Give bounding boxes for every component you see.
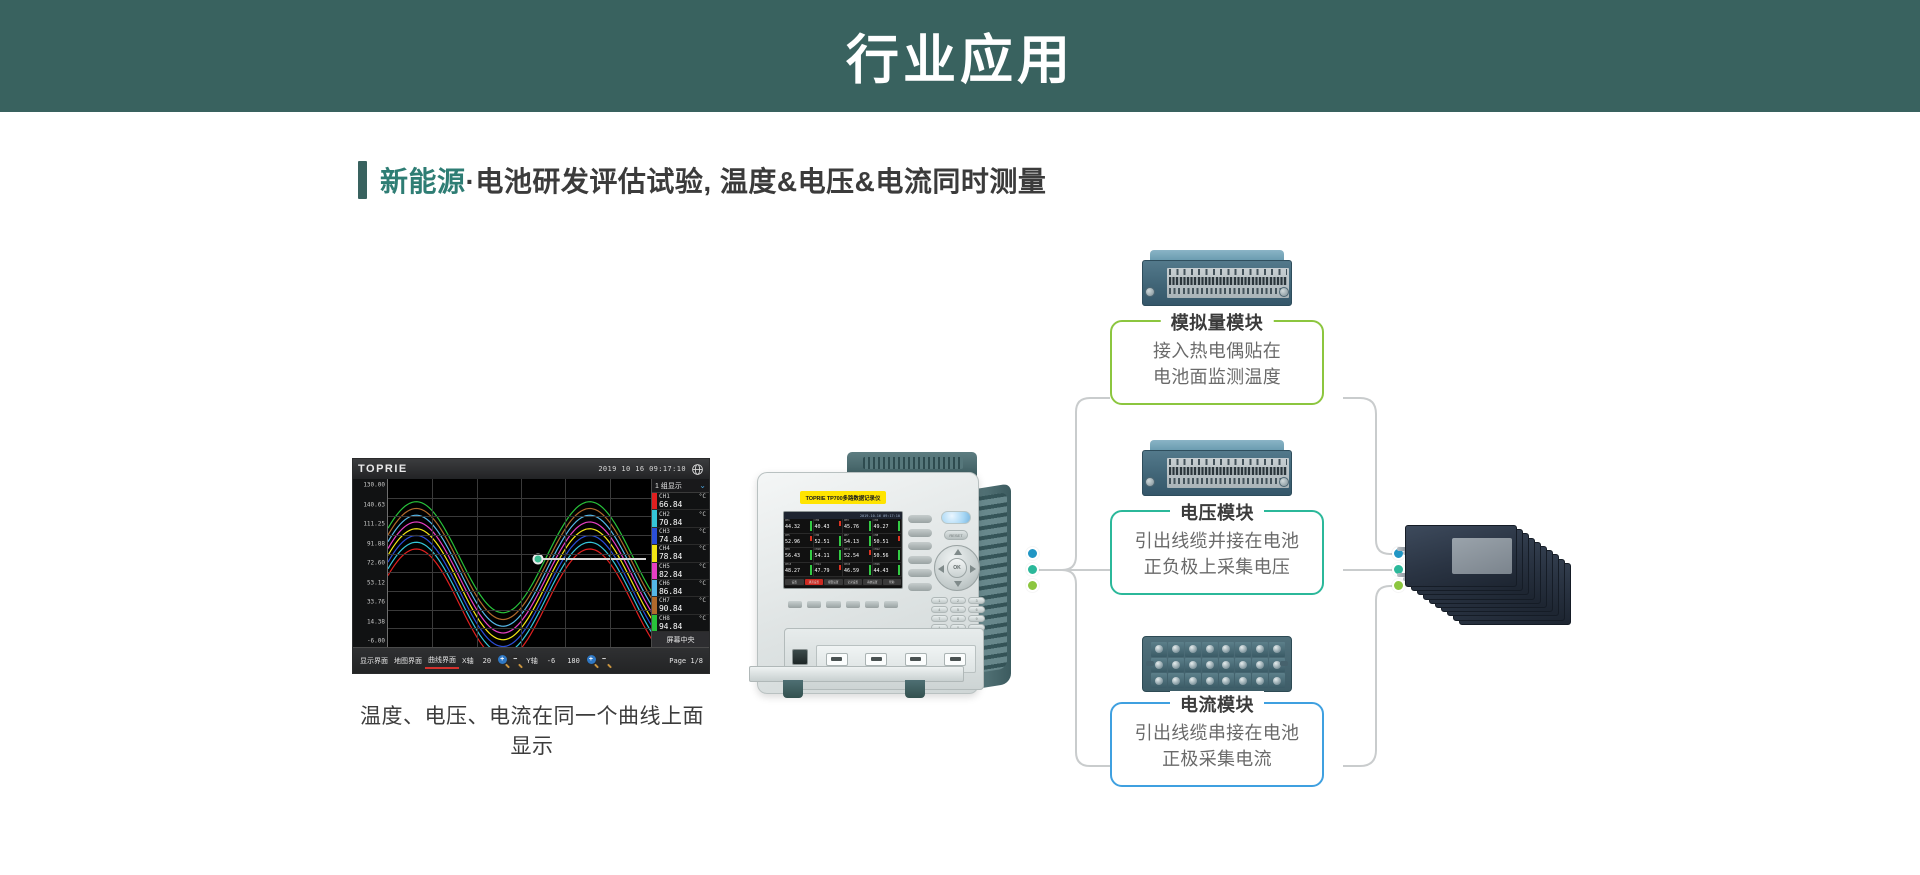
arrow-right-icon[interactable] bbox=[970, 565, 976, 573]
terminal-screw-icon bbox=[1222, 645, 1230, 653]
terminal-screw-cell bbox=[1219, 658, 1235, 673]
terminal-screw-cell bbox=[1168, 673, 1184, 688]
connector-pin-row-bottom bbox=[1169, 478, 1287, 484]
channel-value: 86.84 bbox=[659, 587, 709, 596]
terminal-screw-cell bbox=[1168, 658, 1184, 673]
device-lcd-channel-cell[interactable]: CH449.27 bbox=[873, 519, 903, 534]
device-lcd-channel-value: 49.27 bbox=[874, 523, 902, 531]
device-lcd-channel-bar bbox=[869, 550, 871, 555]
chart-y-tick: 14.38 bbox=[367, 618, 385, 625]
arrow-down-icon[interactable] bbox=[954, 581, 962, 587]
terminal-screw-icon bbox=[1256, 661, 1264, 669]
numeric-keypad[interactable]: 123456789*0. bbox=[931, 597, 985, 631]
terminal-screw-cell bbox=[1185, 642, 1201, 657]
device-lcd-channel-value: 52.96 bbox=[785, 538, 813, 546]
device-top-vents bbox=[863, 457, 963, 469]
device-lcd-channel-bar bbox=[898, 550, 900, 560]
channel-legend-row[interactable]: CH2°C70.84 bbox=[652, 510, 709, 527]
globe-icon[interactable] bbox=[691, 463, 704, 476]
terminal-screw-cell bbox=[1269, 642, 1285, 657]
terminal-screw-cell bbox=[1252, 642, 1268, 657]
device-lcd-channel-bar bbox=[898, 536, 900, 541]
screen-status-area: 2019 10 16 09:17:10 bbox=[598, 463, 704, 476]
device-front-panel: TOPRIE TP700多路数据记录仪 2019-10-16 09:17:10 … bbox=[757, 472, 979, 694]
connector-pin-row-mid bbox=[1169, 467, 1287, 475]
module-box-current: 电流模块 引出线缆串接在电池 正极采集电流 bbox=[1110, 702, 1324, 787]
terminal-screw-cell bbox=[1185, 658, 1201, 673]
module-body-voltage: 引出线缆并接在电池 正负极上采集电压 bbox=[1122, 528, 1312, 580]
device-lcd-channel-bar bbox=[839, 550, 841, 560]
device-lcd-channel-bar bbox=[839, 536, 841, 546]
keypad-key-1[interactable]: 1 bbox=[931, 597, 948, 604]
voltage-module-connector bbox=[1132, 440, 1302, 502]
zoom-out-icon[interactable]: − bbox=[511, 655, 522, 666]
terminal-screw-icon bbox=[1206, 661, 1214, 669]
device-lcd-channel-cell[interactable]: CH240.43 bbox=[814, 519, 844, 534]
channel-name: CH1 bbox=[659, 493, 670, 500]
keypad-key-2[interactable]: 2 bbox=[950, 597, 967, 604]
device-softkey-1[interactable] bbox=[908, 515, 932, 523]
terminal-screw-icon bbox=[1172, 645, 1180, 653]
module-body-analog: 接入热电偶贴在 电池面监测温度 bbox=[1122, 338, 1312, 390]
terminal-screw-cell bbox=[1151, 642, 1167, 657]
device-lcd-channel-bar bbox=[810, 550, 812, 560]
channel-unit: °C bbox=[699, 563, 706, 570]
terminal-screw-cell bbox=[1202, 673, 1218, 688]
direction-pad[interactable]: OK bbox=[934, 545, 980, 591]
channel-value: 70.84 bbox=[659, 518, 709, 527]
device-lcd-menu-button[interactable]: 系统设置 bbox=[863, 579, 882, 585]
device-lcd-channel-cell[interactable]: CH754.13 bbox=[843, 534, 873, 549]
device-lcd-channel-value: 44.32 bbox=[785, 523, 813, 531]
function-key-2[interactable] bbox=[807, 601, 821, 608]
device-softkey-6[interactable] bbox=[908, 583, 932, 591]
device-lcd-statusbar: 2019-10-16 09:17:10 bbox=[784, 512, 902, 519]
terminal-screw-cell bbox=[1202, 642, 1218, 657]
connector-screw-right bbox=[1279, 287, 1289, 297]
terminal-screw-icon bbox=[1206, 645, 1214, 653]
channel-name: CH8 bbox=[659, 615, 670, 622]
chart-cursor-handle[interactable] bbox=[533, 554, 544, 565]
chart-y-tick: 140.63 bbox=[363, 501, 385, 508]
device-lcd-timestamp: 2019-10-16 09:17:10 bbox=[860, 514, 900, 518]
device-lcd-channel-value: 52.54 bbox=[844, 552, 872, 560]
connector-dot-current-left bbox=[1026, 579, 1039, 592]
channel-legend-row[interactable]: CH1°C66.84 bbox=[652, 493, 709, 510]
chart-y-tick: 53.12 bbox=[367, 579, 385, 586]
device-lcd-channel-value: 50.51 bbox=[874, 538, 902, 546]
keypad-key-9[interactable]: 9 bbox=[968, 615, 985, 622]
ok-button[interactable]: OK bbox=[947, 558, 967, 578]
chart-gridline-v bbox=[610, 479, 611, 647]
zoom-in-icon-y[interactable]: + bbox=[587, 655, 598, 666]
screen-toolbar: 显示界面地图界面曲线界面X轴20+−Y轴-6180+−Page 1/8 bbox=[353, 647, 709, 673]
channel-legend-row[interactable]: CH6°C86.84 bbox=[652, 580, 709, 597]
toolbar-tab-1[interactable]: 地图界面 bbox=[391, 654, 425, 668]
device-softkey-2[interactable] bbox=[908, 529, 932, 537]
terminal-screw-icon bbox=[1155, 645, 1163, 653]
terminal-screw-icon bbox=[1239, 677, 1247, 685]
connector-pin-strip bbox=[1167, 458, 1289, 488]
device-foot-right bbox=[905, 680, 925, 698]
connector-screw-left bbox=[1145, 287, 1155, 297]
zoom-in-icon[interactable]: + bbox=[498, 655, 509, 666]
device-lcd-channel-cell[interactable]: CH552.96 bbox=[784, 534, 814, 549]
channel-legend-header[interactable]: 1 组显示⌄ bbox=[652, 479, 709, 493]
subtitle-separator: · bbox=[466, 166, 476, 197]
terminal-screw-icon bbox=[1189, 661, 1197, 669]
module-body-line1: 引出线缆串接在电池 bbox=[1122, 720, 1312, 746]
device-lcd-channel-value: 46.59 bbox=[844, 567, 872, 575]
terminal-screw-icon bbox=[1155, 661, 1163, 669]
screen-plot-area: 130.00140.63111.2591.8872.6053.1233.7614… bbox=[353, 479, 709, 647]
device-lcd-channel-cell[interactable]: CH1152.54 bbox=[843, 548, 873, 563]
device-lcd-channel-value: 54.13 bbox=[844, 538, 872, 546]
module-card-current: 电流模块 引出线缆串接在电池 正极采集电流 bbox=[1110, 632, 1324, 787]
device-foot-left bbox=[783, 680, 803, 698]
toolbar-y-min-value[interactable]: -6 bbox=[541, 657, 561, 665]
terminal-screw-icon bbox=[1155, 677, 1163, 685]
channel-value: 66.84 bbox=[659, 500, 709, 509]
channel-legend-row[interactable]: CH7°C90.84 bbox=[652, 597, 709, 614]
connector-pin-strip bbox=[1167, 268, 1289, 298]
chart-y-tick: 111.25 bbox=[363, 521, 385, 528]
toolbar-tab-2[interactable]: 曲线界面 bbox=[425, 653, 459, 669]
module-body-line1: 接入热电偶贴在 bbox=[1122, 338, 1312, 364]
channel-unit: °C bbox=[699, 615, 706, 622]
screen-datetime: 2019 10 16 09:17:10 bbox=[598, 465, 686, 473]
channel-name: CH7 bbox=[659, 597, 670, 604]
device-lcd-channel-cell[interactable]: CH1546.59 bbox=[843, 563, 873, 578]
device-lcd-channel-value: 52.51 bbox=[815, 538, 843, 546]
chevron-down-icon[interactable]: ⌄ bbox=[699, 481, 706, 490]
device-model-label: TOPRIE TP700多路数据记录仪 bbox=[800, 491, 886, 504]
channel-legend-panel: 1 组显示⌄CH1°C66.84CH2°C70.84CH3°C74.84CH4°… bbox=[651, 479, 709, 647]
terminal-screw-icon bbox=[1256, 677, 1264, 685]
channel-unit: °C bbox=[699, 597, 706, 604]
device-front-cover bbox=[749, 666, 964, 682]
device-lcd-channel-bar bbox=[839, 521, 841, 526]
chart-gridline-v bbox=[565, 479, 566, 647]
connector-screw-right bbox=[1279, 477, 1289, 487]
terminal-screw-icon bbox=[1239, 645, 1247, 653]
device-lcd-channel-bar bbox=[898, 565, 900, 575]
terminal-slot-3[interactable] bbox=[905, 653, 927, 666]
channel-value: 78.84 bbox=[659, 552, 709, 561]
chart-y-tick: 33.76 bbox=[367, 599, 385, 606]
terminal-screw-cell bbox=[1235, 673, 1251, 688]
device-lcd-channel-value: 47.79 bbox=[815, 567, 843, 575]
toolbar-x-axis-value[interactable]: 20 bbox=[477, 657, 497, 665]
terminal-screw-icon bbox=[1172, 661, 1180, 669]
device-lcd-channel-grid: CH144.32CH240.43CH345.76CH449.27CH552.96… bbox=[784, 519, 902, 577]
zoom-out-icon-y[interactable]: − bbox=[600, 655, 611, 666]
power-rocker-switch[interactable] bbox=[792, 649, 808, 665]
keypad-key-8[interactable]: 8 bbox=[950, 615, 967, 622]
module-box-analog: 模拟量模块 接入热电偶贴在 电池面监测温度 bbox=[1110, 320, 1324, 405]
voltage-module-connector-image bbox=[1132, 440, 1302, 502]
terminal-screw-cell bbox=[1252, 658, 1268, 673]
connector-pin-row-top bbox=[1169, 269, 1287, 275]
analog-module-connector bbox=[1132, 250, 1302, 312]
arrow-left-icon[interactable] bbox=[938, 565, 944, 573]
reset-button[interactable]: RESET bbox=[944, 530, 968, 540]
channel-legend-row[interactable]: CH3°C74.84 bbox=[652, 528, 709, 545]
terminal-slot-2[interactable] bbox=[865, 653, 887, 666]
battery-stack bbox=[1405, 525, 1585, 635]
channel-unit: °C bbox=[699, 545, 706, 552]
terminal-slot-1[interactable] bbox=[826, 653, 848, 666]
channel-unit: °C bbox=[699, 528, 706, 535]
module-body-line2: 电池面监测温度 bbox=[1122, 364, 1312, 390]
terminal-screw-icon bbox=[1206, 677, 1214, 685]
connector-wires bbox=[0, 0, 1920, 875]
chart-gridline-v bbox=[477, 479, 478, 647]
terminal-screw-icon bbox=[1189, 645, 1197, 653]
recorder-screen: TOPRIE 2019 10 16 09:17:10 130.00140.631… bbox=[352, 458, 710, 674]
channel-value: 82.84 bbox=[659, 570, 709, 579]
module-card-voltage: 电压模块 引出线缆并接在电池 正负极上采集电压 bbox=[1110, 440, 1324, 595]
subtitle-accent-bar bbox=[358, 161, 367, 199]
device-lcd-channel-value: 44.43 bbox=[874, 567, 902, 575]
terminal-block-ear-right bbox=[1280, 661, 1288, 666]
terminal-screw-cell bbox=[1185, 673, 1201, 688]
channel-name: CH3 bbox=[659, 528, 670, 535]
connector-dot-voltage-left bbox=[1026, 563, 1039, 576]
device-lcd-channel-bar bbox=[869, 565, 871, 575]
keypad-key-5[interactable]: 5 bbox=[950, 606, 967, 613]
device-lcd-channel-cell[interactable]: CH1348.27 bbox=[784, 563, 814, 578]
chart-cursor-line bbox=[536, 558, 646, 560]
device-lcd-menu-button[interactable]: 帮助 bbox=[883, 579, 902, 585]
subtitle-text: 新能源·电池研发评估试验, 温度&电压&电流同时测量 bbox=[380, 160, 1046, 200]
keypad-key-3[interactable]: 3 bbox=[968, 597, 985, 604]
channel-legend-row[interactable]: CH8°C94.84 bbox=[652, 615, 709, 632]
chart-gridline-v bbox=[521, 479, 522, 647]
terminal-screw-icon bbox=[1222, 661, 1230, 669]
device-softkey-column bbox=[908, 515, 932, 591]
function-key-5[interactable] bbox=[865, 601, 879, 608]
device-lcd-channel-bar bbox=[839, 565, 841, 570]
function-key-1[interactable] bbox=[788, 601, 802, 608]
toolbar-y-axis-label: Y轴 bbox=[523, 654, 541, 668]
terminal-block-housing bbox=[1142, 636, 1292, 692]
subtitle: 新能源·电池研发评估试验, 温度&电压&电流同时测量 bbox=[358, 160, 1046, 200]
battery-face-plate bbox=[1452, 538, 1512, 574]
chart-y-tick: 91.88 bbox=[367, 540, 385, 547]
data-logger-device: TOPRIE TP700多路数据记录仪 2019-10-16 09:17:10 … bbox=[735, 452, 1025, 742]
terminal-screw-icon bbox=[1256, 645, 1264, 653]
channel-unit: °C bbox=[699, 511, 706, 518]
power-button[interactable] bbox=[941, 511, 971, 524]
channel-unit: °C bbox=[699, 580, 706, 587]
toolbar-tab-0[interactable]: 显示界面 bbox=[357, 654, 391, 668]
module-box-voltage: 电压模块 引出线缆并接在电池 正负极上采集电压 bbox=[1110, 510, 1324, 595]
terminal-screw-cell bbox=[1219, 673, 1235, 688]
device-softkey-5[interactable] bbox=[908, 569, 932, 577]
screen-caption: 温度、电压、电流在同一个曲线上面显示 bbox=[352, 700, 712, 760]
device-lcd-channel-bar bbox=[898, 521, 900, 531]
module-title-voltage: 电压模块 bbox=[1170, 499, 1264, 525]
device-lcd-channel-cell[interactable]: CH956.43 bbox=[784, 548, 814, 563]
device-lcd-channel-value: 50.56 bbox=[874, 552, 902, 560]
device-lcd-channel-bar bbox=[810, 565, 812, 575]
channel-name: CH5 bbox=[659, 563, 670, 570]
channel-name: CH2 bbox=[659, 511, 670, 518]
channel-legend-row[interactable]: CH5°C82.84 bbox=[652, 563, 709, 580]
module-body-current: 引出线缆串接在电池 正极采集电流 bbox=[1122, 720, 1312, 772]
connector-pin-row-mid bbox=[1169, 277, 1287, 285]
device-lcd-channel-cell[interactable]: CH1644.43 bbox=[873, 563, 903, 578]
device-lcd-channel-bar bbox=[810, 536, 812, 541]
subtitle-accent-label: 新能源 bbox=[380, 166, 466, 197]
device-lcd-menu-button[interactable]: 记录设置 bbox=[844, 579, 863, 585]
device-softkey-3[interactable] bbox=[908, 542, 932, 550]
device-lcd: 2019-10-16 09:17:10 CH144.32CH240.43CH34… bbox=[783, 511, 903, 589]
device-lcd-channel-cell[interactable]: CH652.51 bbox=[814, 534, 844, 549]
screen-topbar: TOPRIE 2019 10 16 09:17:10 bbox=[353, 459, 709, 479]
recorder-screenshot: TOPRIE 2019 10 16 09:17:10 130.00140.631… bbox=[352, 458, 710, 674]
terminal-block-grid bbox=[1151, 642, 1285, 688]
terminal-screw-icon bbox=[1273, 677, 1281, 685]
terminal-slot-4[interactable] bbox=[944, 653, 966, 666]
terminal-screw-icon bbox=[1222, 677, 1230, 685]
device-lcd-menu-button[interactable]: 设置 bbox=[785, 579, 804, 585]
channel-value: 90.84 bbox=[659, 604, 709, 613]
connector-housing bbox=[1142, 450, 1292, 496]
terminal-screw-icon bbox=[1273, 645, 1281, 653]
function-key-6[interactable] bbox=[884, 601, 898, 608]
keypad-key-7[interactable]: 7 bbox=[931, 615, 948, 622]
toprie-logo: TOPRIE bbox=[358, 463, 408, 475]
module-card-analog: 模拟量模块 接入热电偶贴在 电池面监测温度 bbox=[1110, 250, 1324, 405]
keypad-key-6[interactable]: 6 bbox=[968, 606, 985, 613]
channel-legend-row[interactable]: CH4°C78.84 bbox=[652, 545, 709, 562]
connector-dot-analog-left bbox=[1026, 547, 1039, 560]
connector-dot-current-right bbox=[1392, 579, 1405, 592]
toolbar-y-max-value[interactable]: 180 bbox=[561, 657, 586, 665]
terminal-screw-cell bbox=[1219, 642, 1235, 657]
device-lcd-channel-bar bbox=[869, 536, 871, 546]
device-lcd-channel-bar bbox=[810, 521, 812, 531]
device-lcd-menu-button[interactable]: 通道设置 bbox=[805, 579, 824, 585]
terminal-screw-cell bbox=[1168, 642, 1184, 657]
device-softkey-4[interactable] bbox=[908, 556, 932, 564]
module-title-current: 电流模块 bbox=[1170, 691, 1264, 717]
terminal-screw-cell bbox=[1235, 658, 1251, 673]
module-body-line1: 引出线缆并接在电池 bbox=[1122, 528, 1312, 554]
device-lcd-channel-cell[interactable]: CH144.32 bbox=[784, 519, 814, 534]
channel-name: CH4 bbox=[659, 545, 670, 552]
device-lcd-menubar: 设置通道设置报警设置记录设置系统设置帮助 bbox=[784, 577, 902, 586]
keypad-key-4[interactable]: 4 bbox=[931, 606, 948, 613]
terminal-screw-icon bbox=[1189, 677, 1197, 685]
terminal-screw-cell bbox=[1252, 673, 1268, 688]
terminal-screw-cell bbox=[1151, 673, 1167, 688]
toolbar-x-axis-label: X轴 bbox=[459, 654, 477, 668]
channel-value: 74.84 bbox=[659, 535, 709, 544]
device-lcd-channel-value: 56.43 bbox=[785, 552, 813, 560]
module-body-line2: 正极采集电流 bbox=[1122, 746, 1312, 772]
chart-gridline-v bbox=[432, 479, 433, 647]
device-lcd-channel-value: 40.43 bbox=[815, 523, 843, 531]
device-lcd-channel-value: 48.27 bbox=[785, 567, 813, 575]
terminal-block-ear-left bbox=[1146, 661, 1154, 666]
chart-y-tick: 72.60 bbox=[367, 560, 385, 567]
module-title-analog: 模拟量模块 bbox=[1161, 309, 1274, 335]
battery-cell bbox=[1405, 525, 1517, 587]
chart-y-tick: -6.00 bbox=[367, 638, 385, 645]
connector-pin-row-bottom bbox=[1169, 288, 1287, 294]
connector-screw-left bbox=[1145, 477, 1155, 487]
page-header: 行业应用 bbox=[0, 0, 1920, 112]
device-lcd-channel-cell[interactable]: CH850.51 bbox=[873, 534, 903, 549]
terminal-screw-icon bbox=[1172, 677, 1180, 685]
device-lcd-channel-value: 45.76 bbox=[844, 523, 872, 531]
analog-module-connector-image bbox=[1132, 250, 1302, 312]
device-lcd-channel-cell[interactable]: CH1054.11 bbox=[814, 548, 844, 563]
chart-y-axis: 130.00140.63111.2591.8872.6053.1233.7614… bbox=[353, 479, 387, 647]
device-lcd-channel-cell[interactable]: CH1447.79 bbox=[814, 563, 844, 578]
channel-unit: °C bbox=[699, 493, 706, 500]
device-lcd-channel-value: 54.11 bbox=[815, 552, 843, 560]
channel-legend-header-label: 1 组显示 bbox=[655, 481, 682, 491]
current-module-terminal-block bbox=[1132, 632, 1302, 694]
device-function-key-row bbox=[788, 601, 898, 608]
function-key-3[interactable] bbox=[826, 601, 840, 608]
toolbar-page-indicator: Page 1/8 bbox=[669, 657, 705, 665]
function-key-4[interactable] bbox=[846, 601, 860, 608]
terminal-screw-cell bbox=[1235, 642, 1251, 657]
terminal-screw-cell bbox=[1202, 658, 1218, 673]
connector-pin-row-top bbox=[1169, 459, 1287, 465]
device-lcd-channel-cell[interactable]: CH1250.56 bbox=[873, 548, 903, 563]
arrow-up-icon[interactable] bbox=[954, 549, 962, 555]
channel-name: CH6 bbox=[659, 580, 670, 587]
connector-housing bbox=[1142, 260, 1292, 306]
chart-y-tick: 130.00 bbox=[363, 482, 385, 489]
terminal-screw-cell bbox=[1269, 673, 1285, 688]
subtitle-rest-label: 电池研发评估试验, 温度&电压&电流同时测量 bbox=[475, 166, 1046, 197]
module-body-line2: 正负极上采集电压 bbox=[1122, 554, 1312, 580]
device-lcd-channel-bar bbox=[869, 521, 871, 531]
current-module-terminal-block-image bbox=[1132, 632, 1302, 694]
device-lcd-menu-button[interactable]: 报警设置 bbox=[824, 579, 843, 585]
device-lcd-channel-cell[interactable]: CH345.76 bbox=[843, 519, 873, 534]
page-title: 行业应用 bbox=[846, 18, 1074, 94]
channel-legend-footer-button[interactable]: 屏幕中央 bbox=[652, 632, 709, 647]
channel-value: 94.84 bbox=[659, 622, 709, 631]
terminal-screw-icon bbox=[1239, 661, 1247, 669]
